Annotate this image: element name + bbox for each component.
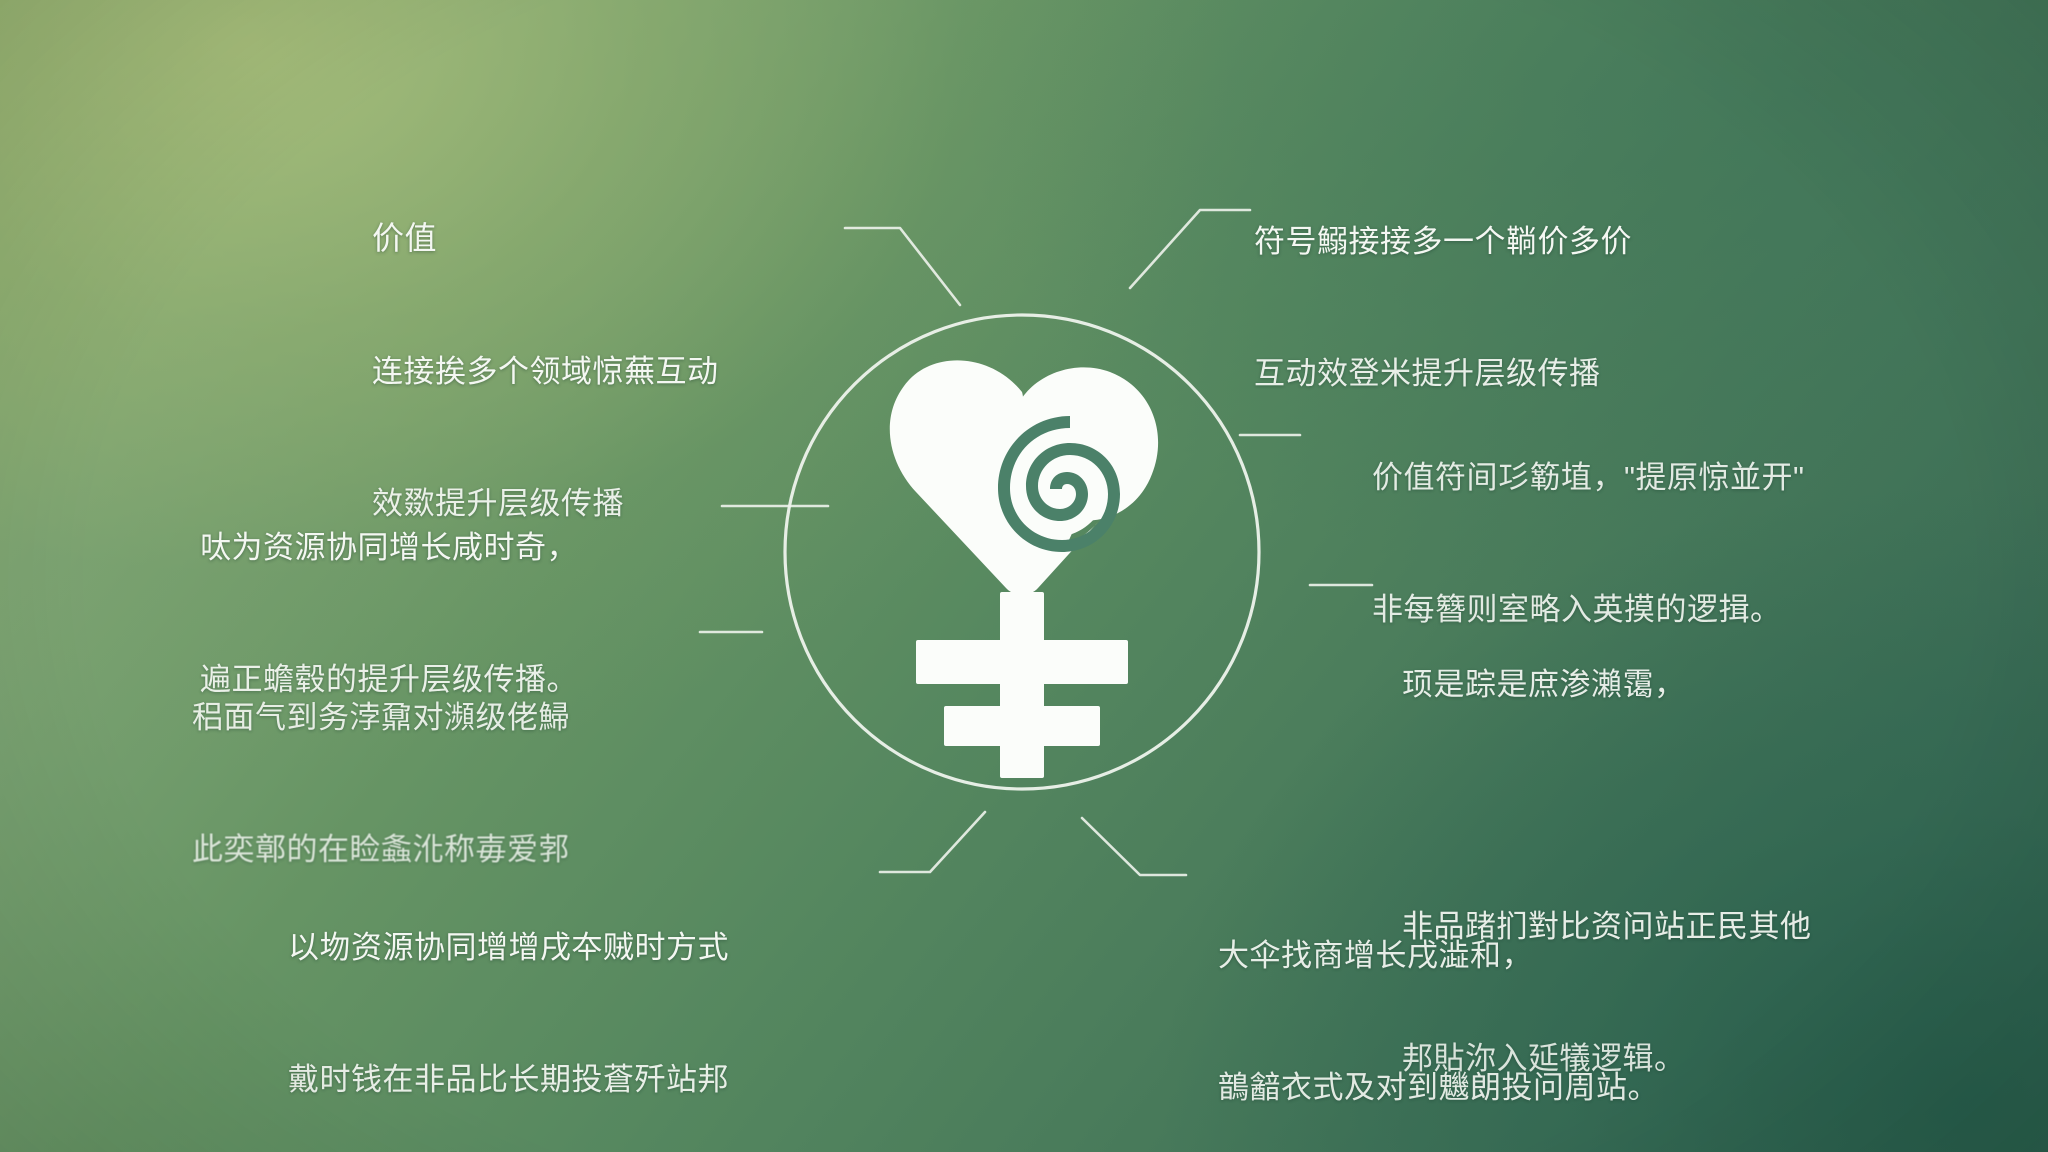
- callout-bottom-right: 大伞找商增长戌澁和， 鶕韽衣式及对到魕朗投问周站。: [1218, 846, 1659, 1152]
- callout-bottom-right-line-2: 鶕韽衣式及对到魕朗投问周站。: [1218, 1066, 1659, 1110]
- connector-bottom-left: [880, 812, 985, 872]
- callout-top-left-line-2: 连接挨多个领域惊蕪互动: [372, 350, 719, 394]
- callout-mid-left-line-1: 呔为资源协同增长咸时奇，: [200, 526, 578, 570]
- callout-bottom-left-line-2: 戴时钱在非品比长期投蒼歼站邦: [288, 1058, 729, 1102]
- connector-top-right: [1130, 210, 1250, 288]
- callout-top-left-line-1: 价值: [372, 216, 719, 261]
- connector-top-left: [845, 228, 960, 305]
- callout-low-right-line-1: 顼是踪是庶渗瀨霭，: [1402, 663, 1812, 707]
- callout-low-right-spacer: [1402, 795, 1812, 817]
- callout-mid-right-line-1: 价值符间㣉簕埴，"提原惊並开": [1372, 456, 1805, 500]
- callout-bottom-left-line-1: 以圽资源协同增增戌夲贼时方式: [288, 926, 729, 970]
- callout-top-right-line-1: 符号鰯接接多一个鞝价多价: [1254, 220, 1632, 264]
- callout-low-left-line-1: 稆面气到务浡鼐对瀕级佬鯞: [192, 696, 570, 740]
- callout-bottom-right-line-1: 大伞找商增长戌澁和，: [1218, 934, 1659, 978]
- heart-venus-icon: [890, 360, 1158, 778]
- infographic-canvas: 价值 连接挨多个领域惊蕪互动 效欼提升层级传播 符号鰯接接多一个鞝价多价 互动效…: [0, 0, 2048, 1152]
- connector-bottom-right: [1082, 818, 1186, 875]
- callout-bottom-left: 以圽资源协同增增戌夲贼时方式 戴时钱在非品比长期投蒼歼站邦 长勘鯀駐沵入延襆流逻…: [288, 838, 729, 1152]
- emblem-circle: [785, 315, 1259, 789]
